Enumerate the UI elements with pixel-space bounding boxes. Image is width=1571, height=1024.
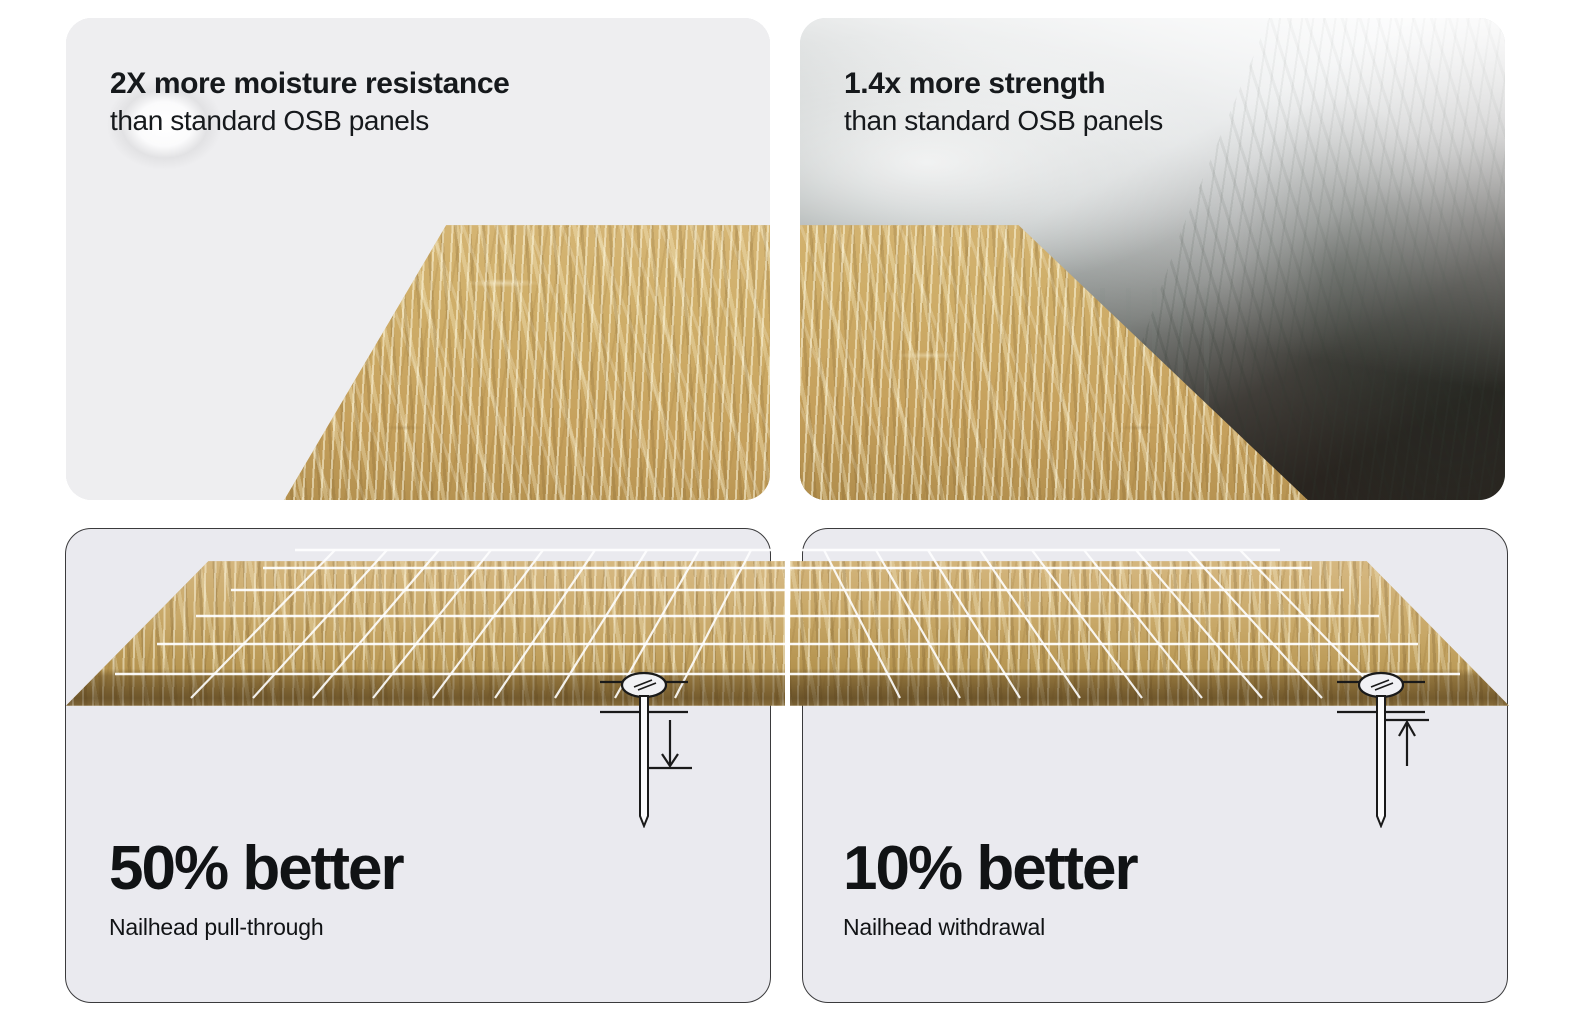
moisture-heading-main: 2X more moisture resistance bbox=[110, 67, 509, 102]
moisture-resistance-card[interactable]: 2X more moisture resistance than standar… bbox=[66, 18, 770, 500]
strength-card[interactable]: 1.4x more strength than standard OSB pan… bbox=[800, 18, 1505, 500]
nail-up-arrow-icon bbox=[1337, 668, 1457, 828]
pull-through-stat: 50% better Nailhead pull-through bbox=[109, 838, 403, 942]
nail-down-arrow-icon bbox=[600, 668, 720, 828]
withdrawal-stat-label: Nailhead withdrawal bbox=[843, 914, 1137, 942]
pull-through-stat-label: Nailhead pull-through bbox=[109, 914, 403, 942]
strength-card-heading: 1.4x more strength than standard OSB pan… bbox=[844, 67, 1163, 137]
pull-through-stat-value: 50% better bbox=[109, 838, 403, 900]
strength-heading-main: 1.4x more strength bbox=[844, 67, 1163, 102]
strength-heading-sub: than standard OSB panels bbox=[844, 104, 1163, 138]
moisture-heading-sub: than standard OSB panels bbox=[110, 104, 509, 138]
withdrawal-panel-art bbox=[0, 520, 1571, 720]
cards-board: 2X more moisture resistance than standar… bbox=[0, 0, 1571, 1024]
withdrawal-stat: 10% better Nailhead withdrawal bbox=[843, 838, 1137, 942]
withdrawal-stat-value: 10% better bbox=[843, 838, 1137, 900]
moisture-card-heading: 2X more moisture resistance than standar… bbox=[110, 67, 509, 137]
